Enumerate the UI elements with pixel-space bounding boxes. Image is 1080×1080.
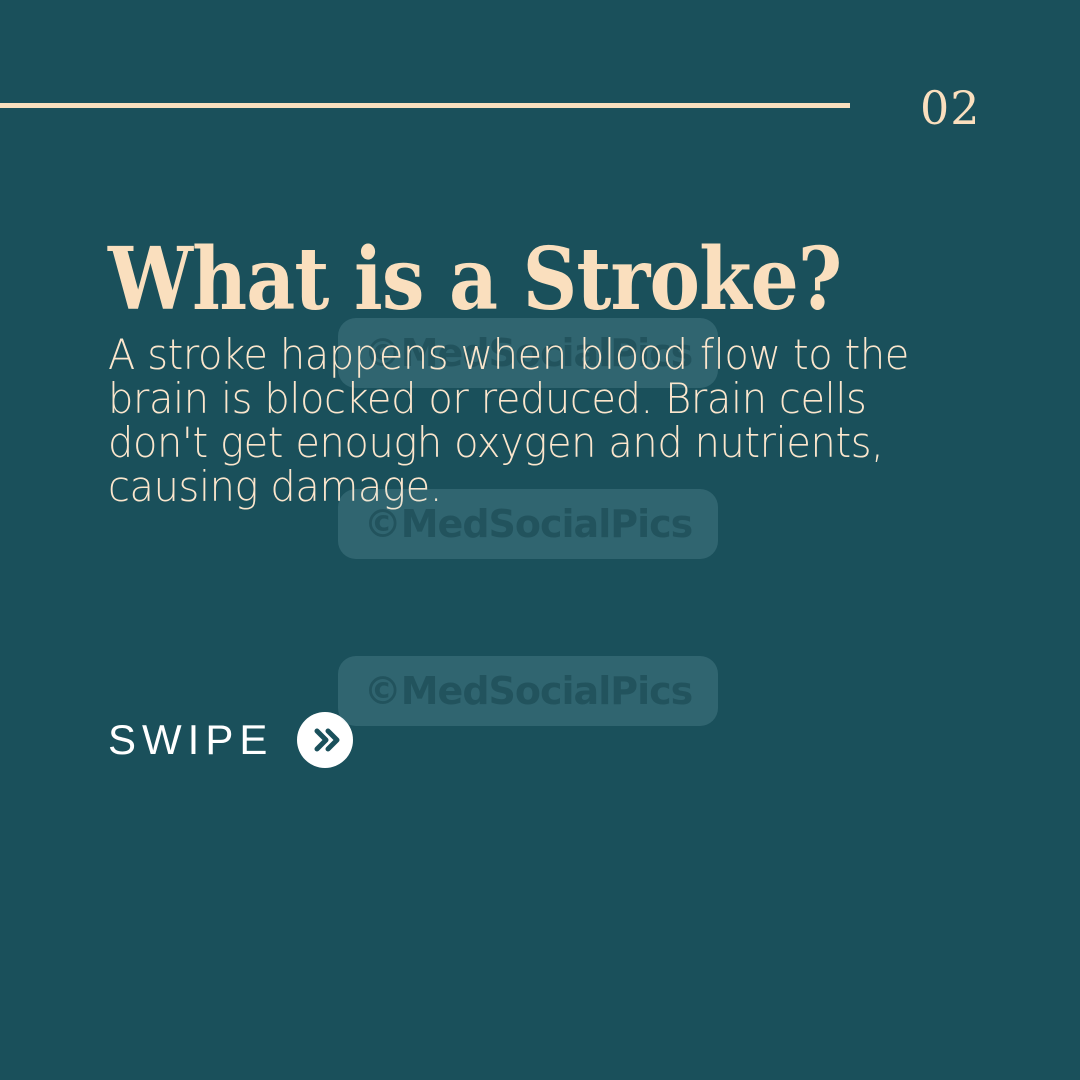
watermark-badge-3: ©MedSocialPics (338, 656, 718, 726)
header-divider-rule (0, 103, 850, 108)
swipe-cue[interactable]: SWIPE (108, 712, 353, 768)
body-line-1: A stroke happens when blood flow to the (108, 333, 963, 377)
body-line-3: don't get enough oxygen and nutrients, (108, 421, 963, 465)
body-paragraph: A stroke happens when blood flow to the … (108, 333, 963, 509)
body-line-2: brain is blocked or reduced. Brain cells (108, 377, 963, 421)
double-chevron-right-icon[interactable] (297, 712, 353, 768)
watermark-text: ©MedSocialPics (364, 669, 693, 713)
slide-number: 02 (920, 80, 1030, 136)
page-title: What is a Stroke? (108, 236, 900, 324)
body-line-4: causing damage. (108, 465, 963, 509)
swipe-label: SWIPE (108, 712, 273, 768)
slide-canvas: 02 What is a Stroke? ©MedSocialPics A st… (0, 0, 1080, 1080)
slide-header: 02 (0, 80, 1080, 136)
